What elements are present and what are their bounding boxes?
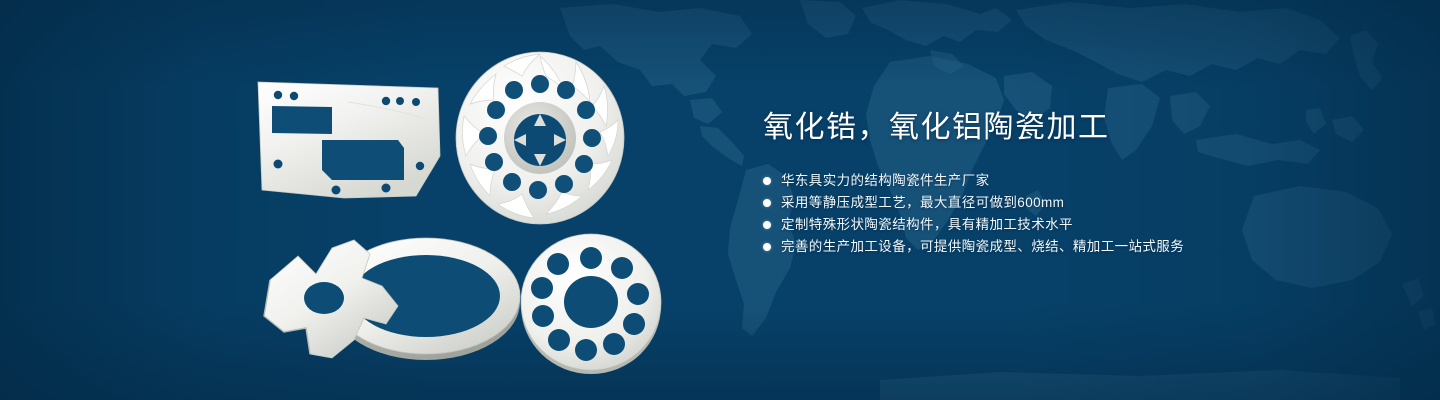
- list-item-label: 完善的生产加工设备，可提供陶瓷成型、烧结、精加工一站式服务: [781, 236, 1184, 258]
- feature-bullet-list: 华东具实力的结构陶瓷件生产厂家 采用等静压成型工艺，最大直径可做到600mm 定…: [763, 170, 1363, 258]
- list-item-label: 华东具实力的结构陶瓷件生产厂家: [781, 170, 990, 192]
- ceramic-cross-shaped-part: [258, 228, 526, 378]
- ceramic-vaned-impeller-disc: [452, 48, 628, 226]
- list-item: 定制特殊形状陶瓷结构件，具有精加工技术水平: [763, 214, 1363, 236]
- bullet-dot-icon: [763, 177, 771, 185]
- ceramic-perforated-flange-disc: [516, 230, 666, 376]
- banner-text-block: 氧化锆，氧化铝陶瓷加工 华东具实力的结构陶瓷件生产厂家 采用等静压成型工艺，最大…: [763, 108, 1363, 258]
- ceramic-plate-with-cutouts: [248, 78, 448, 202]
- list-item-label: 定制特殊形状陶瓷结构件，具有精加工技术水平: [781, 214, 1073, 236]
- bullet-dot-icon: [763, 243, 771, 251]
- bullet-dot-icon: [763, 199, 771, 207]
- product-photo-collage: [0, 0, 740, 400]
- list-item: 完善的生产加工设备，可提供陶瓷成型、烧结、精加工一站式服务: [763, 236, 1363, 258]
- bullet-dot-icon: [763, 221, 771, 229]
- list-item: 华东具实力的结构陶瓷件生产厂家: [763, 170, 1363, 192]
- list-item: 采用等静压成型工艺，最大直径可做到600mm: [763, 192, 1363, 214]
- list-item-label: 采用等静压成型工艺，最大直径可做到600mm: [781, 192, 1064, 214]
- promo-banner: 氧化锆，氧化铝陶瓷加工 华东具实力的结构陶瓷件生产厂家 采用等静压成型工艺，最大…: [0, 0, 1440, 400]
- page-title: 氧化锆，氧化铝陶瓷加工: [763, 108, 1363, 148]
